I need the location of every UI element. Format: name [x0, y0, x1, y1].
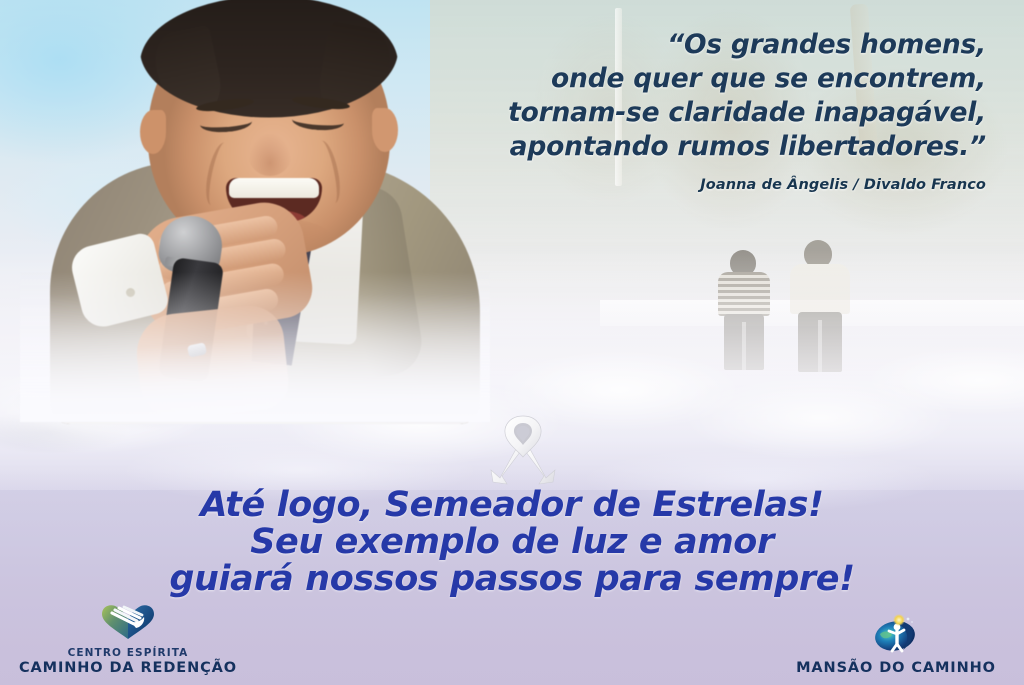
logo-centro-espirita: CENTRO ESPÍRITA CAMINHO DA REDENÇÃO — [8, 603, 248, 677]
quote-line-3: tornam-se claridade inapagável, — [426, 96, 986, 130]
quote-block: “Os grandes homens, onde quer que se enc… — [426, 28, 986, 193]
logo-right-line-1: MANSÃO DO CAMINHO — [776, 660, 1016, 677]
ear-left — [140, 110, 166, 154]
white-awareness-ribbon-icon — [488, 410, 558, 486]
ear-right — [372, 108, 398, 152]
hand-holding-microphone — [133, 303, 291, 422]
cuff-button — [126, 288, 135, 297]
quote-line-1: “Os grandes homens, — [426, 28, 986, 62]
quote-line-4: apontando rumos libertadores.” — [426, 130, 986, 164]
logo-left-line-1: CENTRO ESPÍRITA — [8, 647, 248, 660]
memorial-poster: “Os grandes homens, onde quer que se enc… — [0, 0, 1024, 685]
portrait-photo — [20, 0, 490, 422]
quote-line-2: onde quer que se encontrem, — [426, 62, 986, 96]
nose — [248, 132, 292, 176]
logo-mansao-do-caminho: MANSÃO DO CAMINHO — [776, 614, 1016, 677]
quote-attribution: Joanna de Ângelis / Divaldo Franco — [426, 177, 986, 193]
headline-line-2: Seu exemplo de luz e amor — [0, 524, 1024, 561]
heart-hands-icon — [8, 603, 248, 645]
headline-line-3: guiará nossos passos para sempre! — [0, 561, 1024, 598]
headline-line-1: Até logo, Semeador de Estrelas! — [0, 487, 1024, 524]
globe-figure-icon — [776, 614, 1016, 658]
headline-block: Até logo, Semeador de Estrelas! Seu exem… — [0, 487, 1024, 598]
logo-left-line-2: CAMINHO DA REDENÇÃO — [8, 660, 248, 677]
